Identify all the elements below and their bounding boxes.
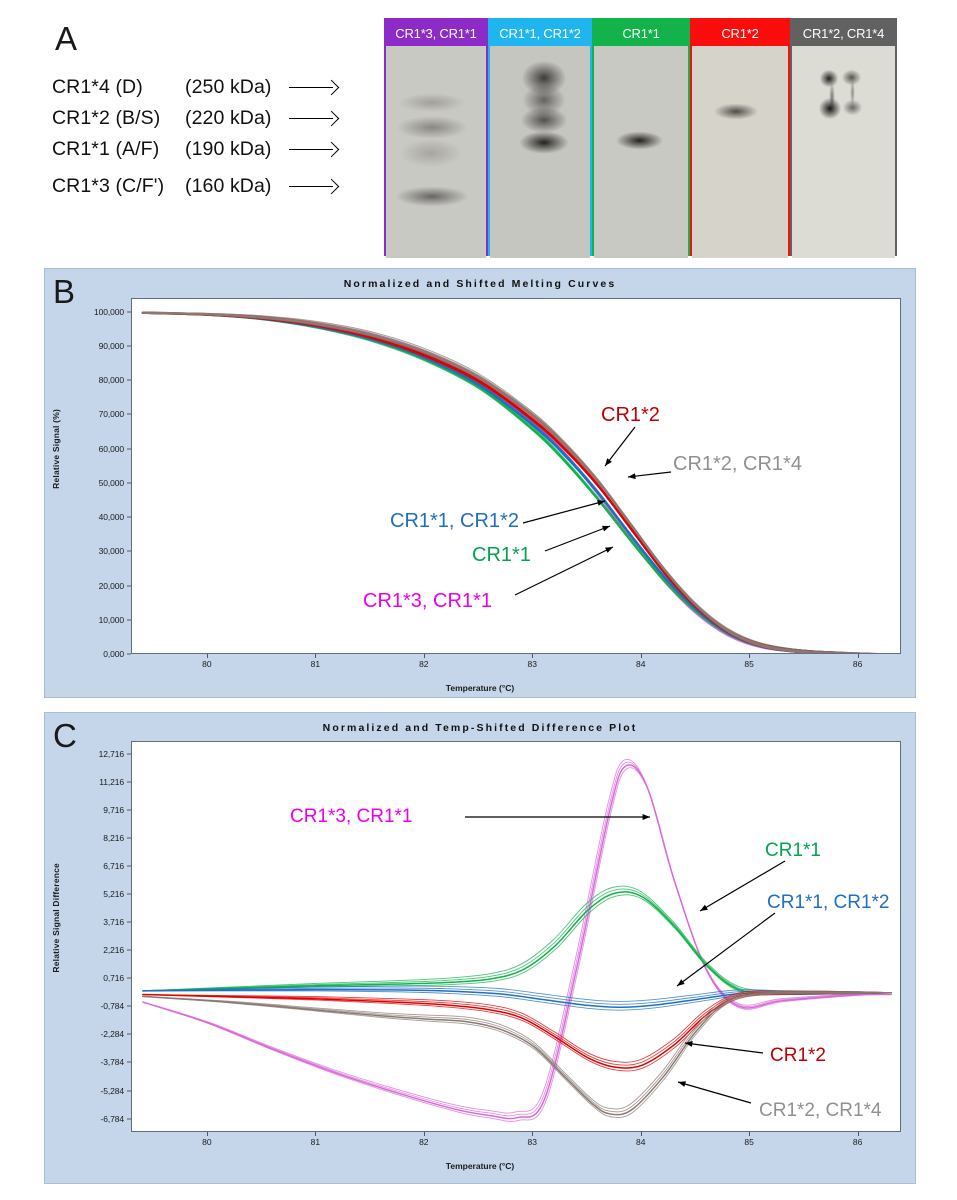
x-axis-tick-label: 85 [744, 1137, 753, 1147]
y-axis-tick-mark [127, 311, 131, 312]
curve-annotation-label: CR1*1 [472, 545, 531, 565]
x-axis-tick-label: 83 [528, 659, 537, 669]
x-axis-tick-label: 81 [311, 659, 320, 669]
curve-annotation-label: CR1*3, CR1*1 [363, 591, 492, 611]
y-axis-tick-mark [127, 950, 131, 951]
blot-band [850, 78, 855, 108]
blot-lane: CR1*1, CR1*2 [488, 18, 592, 256]
blot-band [522, 61, 566, 95]
x-axis-tick-mark [532, 1132, 533, 1136]
legend-allele-name: CR1*3 (C/F') [52, 175, 185, 198]
legend-allele-name: CR1*2 (B/S) [52, 107, 185, 130]
blot-band [819, 69, 840, 88]
legend-molecular-mass: (190 kDa) [185, 138, 289, 161]
curve-cr1-3-cr1-1 [143, 313, 891, 654]
y-axis-tick-label: -5,284 [100, 1086, 124, 1096]
y-axis-tick-label: 10,000 [99, 615, 124, 625]
blot-lane-film [594, 46, 688, 258]
blot-lane-label: CR1*2, CR1*4 [792, 20, 895, 46]
blot-lane-film [386, 46, 486, 258]
legend-row: CR1*3 (C/F') (160 kDa) [52, 171, 382, 202]
y-axis-tick-label: 2,216 [103, 945, 124, 955]
curve-cr1-1 [143, 313, 891, 654]
blot-lane-label: CR1*2 [692, 20, 788, 46]
y-axis-tick-label: 40,000 [99, 512, 124, 522]
arrow-right-icon [289, 81, 343, 95]
panel-b-chart-title: Normalized and Shifted Melting Curves [45, 278, 915, 290]
blot-lane-strip: CR1*3, CR1*1 CR1*1, CR1*2 CR1*1 [384, 18, 897, 256]
y-axis-tick-label: -3,784 [100, 1057, 124, 1067]
y-axis-tick-label: 3,716 [103, 917, 124, 927]
curve-annotation-label: CR1*2, CR1*4 [759, 1101, 882, 1120]
curve-cr1-1-cr1-2 [143, 986, 891, 1001]
blot-band [523, 84, 565, 116]
y-axis-tick-label: 0,716 [103, 973, 124, 983]
y-axis-tick-mark [127, 345, 131, 346]
panel-a-letter: A [55, 22, 77, 55]
panel-c-x-axis-label: Temperature (°C) [45, 1161, 915, 1171]
curve-cr1-1 [143, 313, 891, 654]
y-axis-tick-label: 90,000 [99, 341, 124, 351]
blot-band [521, 107, 567, 132]
curve-annotation-label: CR1*2 [601, 405, 660, 425]
arrow-right-icon [289, 112, 343, 126]
y-axis-tick-mark [127, 922, 131, 923]
y-axis-tick-label: 12,716 [99, 749, 124, 759]
x-axis-tick-mark [315, 654, 316, 658]
y-axis-tick-label: -2,284 [100, 1029, 124, 1039]
y-axis-tick-mark [127, 482, 131, 483]
y-axis-tick-mark [127, 809, 131, 810]
curve-annotation-label: CR1*3, CR1*1 [290, 807, 413, 826]
panel-b-curves [132, 299, 901, 654]
y-axis-tick-mark [127, 1006, 131, 1007]
blot-band [818, 97, 843, 120]
y-axis-tick-mark [127, 1034, 131, 1035]
x-axis-tick-mark [641, 654, 642, 658]
curve-cr1-3-cr1-1 [143, 313, 891, 654]
y-axis-tick-mark [127, 380, 131, 381]
legend-molecular-mass: (250 kDa) [185, 76, 289, 99]
x-axis-tick-label: 85 [744, 659, 753, 669]
x-axis-tick-mark [858, 654, 859, 658]
legend-molecular-mass: (160 kDa) [185, 175, 289, 198]
legend-molecular-mass: (220 kDa) [185, 107, 289, 130]
panel-b-x-axis-label: Temperature (°C) [45, 683, 915, 693]
blot-lane: CR1*1 [592, 18, 690, 256]
x-axis-tick-label: 86 [853, 1137, 862, 1147]
curve-annotation-label: CR1*1 [765, 841, 821, 860]
legend-row: CR1*4 (D) (250 kDa) [52, 72, 382, 103]
blot-band [713, 103, 759, 120]
y-axis-tick-label: 100,000 [94, 307, 124, 317]
y-axis-tick-label: 50,000 [99, 478, 124, 488]
blot-lane-film [692, 46, 788, 258]
curve-cr1-1-cr1-2 [143, 313, 891, 654]
x-axis-tick-label: 82 [419, 1137, 428, 1147]
blot-lane-film [792, 46, 895, 258]
legend-allele-name: CR1*1 (A/F) [52, 138, 185, 161]
blot-legend: CR1*4 (D) (250 kDa) CR1*2 (B/S) (220 kDa… [52, 72, 382, 202]
curve-cr1-1-cr1-2 [143, 988, 891, 1004]
y-axis-tick-mark [127, 448, 131, 449]
blot-band [396, 116, 468, 139]
x-axis-tick-mark [424, 654, 425, 658]
panel-c-curves [132, 742, 901, 1132]
y-axis-tick-mark [127, 1090, 131, 1091]
panel-c-chart-title: Normalized and Temp-Shifted Difference P… [45, 722, 915, 734]
x-axis-tick-mark [315, 1132, 316, 1136]
curve-cr1-3-cr1-1 [143, 313, 891, 654]
blot-band [519, 131, 569, 154]
curve-cr1-2 [143, 313, 891, 654]
y-axis-tick-mark [127, 894, 131, 895]
y-axis-tick-mark [127, 866, 131, 867]
y-axis-tick-mark [127, 978, 131, 979]
curve-annotation-label: CR1*2, CR1*4 [673, 454, 802, 474]
y-axis-tick-label: 0,000 [103, 649, 124, 659]
curve-cr1-1-cr1-2 [143, 313, 891, 654]
blot-band [842, 99, 863, 116]
y-axis-tick-label: 20,000 [99, 581, 124, 591]
blot-lane: CR1*2 [690, 18, 790, 256]
curve-annotation-label: CR1*1, CR1*2 [390, 511, 519, 531]
curve-cr1-1-cr1-2 [143, 991, 891, 1010]
x-axis-tick-mark [424, 1132, 425, 1136]
y-axis-tick-mark [127, 753, 131, 754]
x-axis-tick-mark [749, 1132, 750, 1136]
y-axis-tick-label: 11,216 [99, 777, 124, 787]
blot-band [615, 131, 664, 150]
y-axis-tick-mark [127, 837, 131, 838]
blot-lane-label: CR1*1, CR1*2 [490, 20, 590, 46]
arrow-right-icon [289, 143, 343, 157]
x-axis-tick-label: 86 [853, 659, 862, 669]
x-axis-tick-mark [749, 654, 750, 658]
x-axis-tick-label: 82 [419, 659, 428, 669]
x-axis-tick-mark [858, 1132, 859, 1136]
blot-lane: CR1*2, CR1*4 [790, 18, 897, 256]
panel-c-plot-area [131, 741, 901, 1132]
legend-allele-name: CR1*4 (D) [52, 76, 185, 99]
x-axis-tick-label: 83 [528, 1137, 537, 1147]
curve-cr1-1-cr1-2 [143, 313, 891, 654]
panel-c-y-axis-label: Relative Signal Difference [51, 863, 61, 973]
y-axis-tick-mark [127, 551, 131, 552]
blot-lane-film [490, 46, 590, 258]
curve-annotation-label: CR1*2 [770, 1046, 826, 1065]
curve-cr1-2 [143, 313, 891, 654]
panel-b-melting-curves: B Normalized and Shifted Melting Curves … [44, 268, 916, 698]
y-axis-tick-mark [127, 781, 131, 782]
blot-band [400, 139, 462, 167]
y-axis-tick-label: 8,216 [103, 833, 124, 843]
blot-band [841, 69, 862, 86]
x-axis-tick-mark [641, 1132, 642, 1136]
panel-c-difference-plot: C Normalized and Temp-Shifted Difference… [44, 712, 916, 1184]
y-axis-tick-label: 70,000 [99, 409, 124, 419]
y-axis-tick-label: 5,216 [103, 889, 124, 899]
blot-lane-label: CR1*1 [594, 20, 688, 46]
y-axis-tick-mark [127, 1118, 131, 1119]
y-axis-tick-label: -6,784 [100, 1114, 124, 1124]
y-axis-tick-label: 6,716 [103, 861, 124, 871]
x-axis-tick-label: 81 [311, 1137, 320, 1147]
panel-b-plot-area [131, 298, 901, 654]
curve-cr1-2-cr1-4 [143, 313, 891, 654]
blot-band [394, 186, 470, 207]
blot-band [398, 93, 466, 112]
curve-cr1-2 [143, 313, 891, 654]
y-axis-tick-label: 9,716 [103, 805, 124, 815]
curve-cr1-1 [143, 313, 891, 654]
y-axis-tick-mark [127, 585, 131, 586]
y-axis-tick-mark [127, 1062, 131, 1063]
curve-cr1-1-cr1-2 [143, 313, 891, 654]
y-axis-tick-mark [127, 654, 131, 655]
blot-lane-label: CR1*3, CR1*1 [386, 20, 486, 46]
curve-cr1-1-cr1-2 [143, 990, 891, 1008]
arrow-right-icon [289, 180, 343, 194]
x-axis-tick-mark [532, 654, 533, 658]
curve-cr1-3-cr1-1 [143, 768, 891, 1122]
x-axis-tick-mark [207, 1132, 208, 1136]
curve-annotation-label: CR1*1, CR1*2 [767, 893, 890, 912]
curve-cr1-2-cr1-4 [143, 313, 891, 654]
y-axis-tick-label: 80,000 [99, 375, 124, 385]
panel-b-y-axis-label: Relative Signal (%) [51, 409, 61, 489]
curve-cr1-2 [143, 313, 891, 654]
y-axis-tick-label: 60,000 [99, 444, 124, 454]
x-axis-tick-label: 84 [636, 659, 645, 669]
y-axis-tick-mark [127, 414, 131, 415]
x-axis-tick-mark [207, 654, 208, 658]
x-axis-tick-label: 80 [202, 1137, 211, 1147]
legend-row: CR1*2 (B/S) (220 kDa) [52, 103, 382, 134]
y-axis-tick-mark [127, 619, 131, 620]
y-axis-tick-label: -0,784 [100, 1001, 124, 1011]
x-axis-tick-label: 80 [202, 659, 211, 669]
curve-cr1-2-cr1-4 [143, 313, 891, 654]
curve-cr1-2-cr1-4 [143, 313, 891, 654]
x-axis-tick-label: 84 [636, 1137, 645, 1147]
blot-band [829, 82, 835, 112]
y-axis-tick-mark [127, 517, 131, 518]
legend-row: CR1*1 (A/F) (190 kDa) [52, 134, 382, 165]
curve-cr1-1 [143, 313, 891, 654]
y-axis-tick-label: 30,000 [99, 546, 124, 556]
panel-a-western-blot: A CR1*4 (D) (250 kDa) CR1*2 (B/S) (220 k… [0, 0, 957, 262]
blot-lane: CR1*3, CR1*1 [384, 18, 488, 256]
curve-cr1-3-cr1-1 [143, 313, 891, 654]
